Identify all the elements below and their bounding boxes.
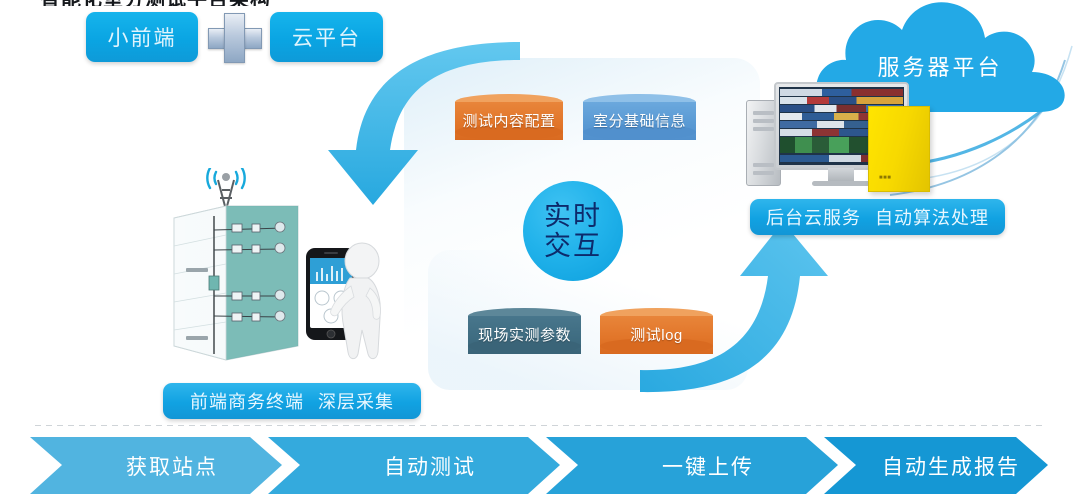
process-step-2[interactable]: 一键上传	[578, 437, 838, 494]
auto-algorithm-text: 自动算法处理	[875, 204, 989, 230]
cylinder-label: 测试内容配置	[455, 104, 563, 136]
process-step-0[interactable]: 获取站点	[62, 437, 282, 494]
cylinder-test-log[interactable]: 测试log	[600, 308, 713, 356]
cylinder-indoor-base-info[interactable]: 室分基础信息	[583, 94, 696, 142]
monitor-base	[812, 181, 870, 186]
frontend-terminal-label[interactable]: 前端商务终端 深层采集	[163, 383, 421, 419]
cylinder-test-content-config[interactable]: 测试内容配置	[455, 94, 563, 142]
process-step-0-label: 获取站点	[126, 451, 218, 481]
backend-cloud-service-text: 后台云服务	[766, 204, 861, 230]
diagram-canvas: 智能化室分测试平台架构 小前端 云平台	[0, 0, 1080, 494]
process-flow-bar: 获取站点 自动测试 一键上传 自动生成报告	[0, 437, 1080, 494]
process-step-1-label: 自动测试	[384, 451, 476, 481]
section-divider	[35, 425, 1045, 426]
server-box-brand: ■■■	[879, 175, 891, 181]
realtime-interaction-line1: 实时	[544, 201, 602, 231]
cylinder-label: 室分基础信息	[583, 104, 696, 136]
process-step-2-label: 一键上传	[662, 451, 754, 481]
monitor-stand	[828, 168, 854, 182]
backend-cloud-service-label[interactable]: 后台云服务 自动算法处理	[750, 199, 1005, 235]
server-box-icon: ■■■	[868, 106, 930, 192]
building-cutaway	[174, 206, 298, 360]
process-step-1[interactable]: 自动测试	[300, 437, 560, 494]
cylinder-label: 现场实测参数	[468, 318, 581, 350]
process-step-3-label: 自动生成报告	[882, 451, 1020, 481]
realtime-interaction-line2: 交互	[544, 231, 602, 261]
cloud-label: 服务器平台	[806, 50, 1074, 82]
indoor-distribution-illustration	[166, 168, 406, 380]
antenna-tower-icon	[207, 168, 244, 210]
server-hardware-illustration: ■■■	[746, 82, 971, 194]
frontend-terminal-text: 前端商务终端	[190, 388, 304, 414]
cylinder-field-measured-params[interactable]: 现场实测参数	[468, 308, 581, 356]
cylinder-label: 测试log	[600, 318, 713, 350]
deep-collection-text: 深层采集	[318, 388, 394, 414]
process-step-3[interactable]: 自动生成报告	[856, 437, 1046, 494]
realtime-interaction-circle: 实时 交互	[523, 181, 623, 281]
